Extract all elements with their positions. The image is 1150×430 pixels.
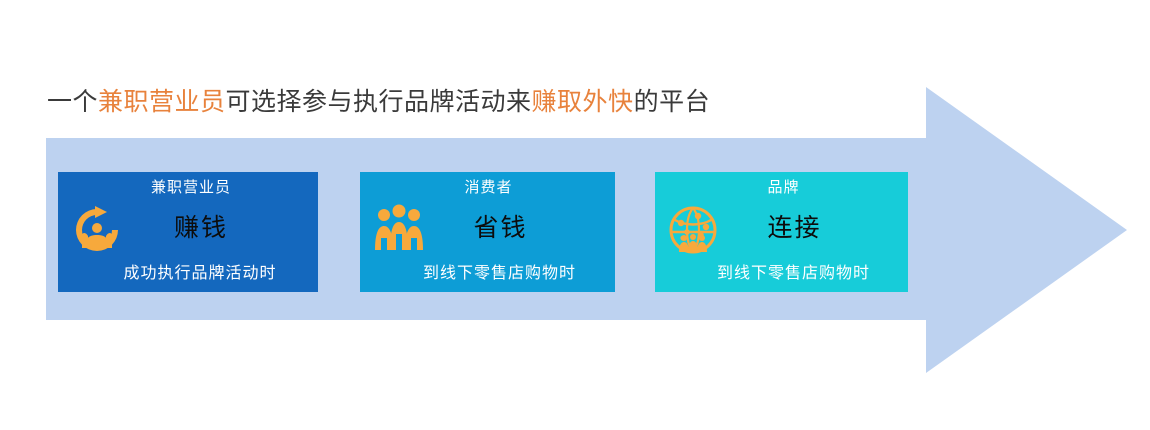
card-main-text: 赚钱 [58,212,318,244]
card-part-time-clerk[interactable]: 兼职营业员 赚钱 成功执行品牌活动时 [58,172,318,292]
page-title: 一个兼职营业员可选择参与执行品牌活动来赚取外快的平台 [47,86,710,118]
headline-segment-3: 的平台 [634,88,711,116]
headline-highlight-1: 兼职营业员 [98,88,226,116]
card-title: 消费者 [360,178,615,198]
card-main-text: 省钱 [360,212,615,244]
card-footer-text: 到线下零售店购物时 [360,263,615,285]
card-brand[interactable]: 品牌 连接 到线下零售店购物时 [655,172,908,292]
card-footer-text: 成功执行品牌活动时 [58,263,318,285]
card-footer-text: 到线下零售店购物时 [655,263,908,285]
card-consumer[interactable]: 消费者 省钱 到线下零售店购物时 [360,172,615,292]
headline-highlight-2: 赚取外快 [532,88,634,116]
card-title: 品牌 [655,178,908,198]
card-main-text: 连接 [655,212,908,244]
headline-segment-1: 一个 [47,88,98,116]
card-title: 兼职营业员 [58,178,318,198]
headline-segment-2: 可选择参与执行品牌活动来 [226,88,532,116]
cards-row: 兼职营业员 赚钱 成功执行品牌活动时 消费者 省钱 到线下零售店购物时 [58,172,908,292]
